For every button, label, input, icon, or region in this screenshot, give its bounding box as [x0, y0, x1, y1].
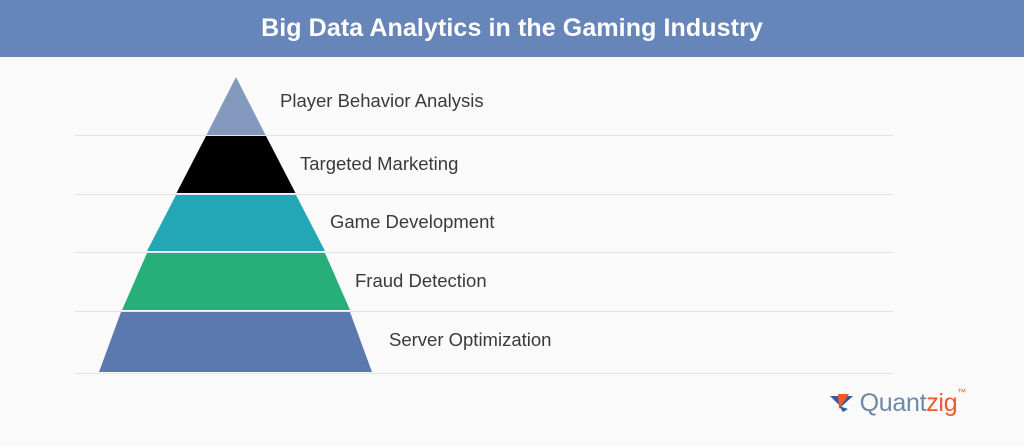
infographic-root: Big Data Analytics in the Gaming Industr… [0, 0, 1024, 447]
pyramid-tier-4-label: Fraud Detection [355, 272, 487, 291]
logo-text-zig: zig [926, 389, 957, 417]
quantzig-wordmark: Quantzig™ [860, 391, 966, 416]
page-title: Big Data Analytics in the Gaming Industr… [261, 14, 763, 43]
footer: Quantzig™ [0, 382, 1024, 447]
logo-text-quant: Quant [860, 389, 927, 417]
tier-divider-5 [75, 373, 893, 374]
pyramid-tier-1-label: Player Behavior Analysis [280, 92, 484, 111]
quantzig-arrow-icon [829, 392, 857, 414]
logo-trademark: ™ [957, 387, 966, 397]
quantzig-logo[interactable]: Quantzig™ [829, 390, 966, 415]
header-banner: Big Data Analytics in the Gaming Industr… [0, 0, 1024, 57]
pyramid-tier-2-label: Targeted Marketing [300, 155, 458, 174]
pyramid-tier-3-label: Game Development [330, 213, 495, 232]
pyramid-tier-5-label: Server Optimization [389, 331, 551, 350]
pyramid-chart: Player Behavior Analysis Targeted Market… [0, 57, 1024, 382]
